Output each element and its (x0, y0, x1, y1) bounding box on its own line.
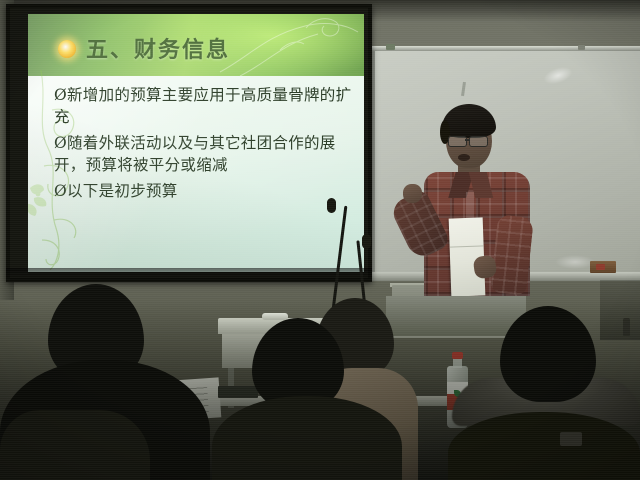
bullet-2-text: Ø随着外联活动以及与其它社团合作的展开，预算将被平分或缩减 (54, 134, 336, 174)
presenter-hair (442, 104, 496, 138)
whiteboard-clip-left (386, 44, 395, 50)
slide-bullet-3: Ø以下是初步预算 (54, 180, 354, 202)
bottle-cap (452, 352, 463, 359)
glasses-lens-left (448, 136, 467, 147)
header-swirl-decoration (210, 16, 360, 78)
classroom-scene: 五、财务信息 (0, 0, 640, 480)
desk-object (262, 313, 288, 320)
whiteboard-top-rail (372, 46, 640, 51)
audience-arm-left (0, 410, 150, 480)
bullet-3-text: Ø以下是初步预算 (54, 182, 178, 200)
projected-slide: 五、财务信息 (28, 14, 364, 272)
glasses-lens-right (469, 136, 488, 147)
slide-body: Ø新增加的预算主要应用于高质量骨牌的扩充 Ø随着外联活动以及与其它社团合作的展开… (28, 76, 364, 272)
slide-header-band: 五、财务信息 (28, 14, 364, 76)
presenter (398, 96, 558, 296)
glasses-bridge (465, 139, 470, 141)
gray-wall-panel (386, 296, 526, 336)
sun-icon (58, 40, 76, 58)
audience-body-right (448, 412, 640, 480)
audience-notebook (218, 386, 258, 398)
projection-screen-frame: 五、财务信息 (6, 4, 372, 282)
slide-bullet-1: Ø新增加的预算主要应用于高质量骨牌的扩充 (54, 84, 354, 128)
microphone-head-right (362, 234, 371, 249)
slide-bullet-2: Ø随着外联活动以及与其它社团合作的展开，预算将被平分或缩减 (54, 132, 354, 176)
audience-jacket-zipper (560, 432, 582, 446)
microphone-head-left (327, 198, 336, 213)
presenter-fist (403, 184, 422, 203)
screen-drop-shadow (6, 268, 372, 284)
bullet-1-text: Ø新增加的预算主要应用于高质量骨牌的扩充 (54, 86, 351, 126)
wall-right-shadow (600, 280, 640, 340)
slide-title: 五、财务信息 (86, 32, 230, 64)
whiteboard-eraser-accent (596, 264, 605, 270)
far-bottle (623, 318, 630, 336)
slide-bullet-list: Ø新增加的预算主要应用于高质量骨牌的扩充 Ø随着外联活动以及与其它社团合作的展开… (54, 84, 354, 206)
whiteboard-clip-right (578, 45, 585, 50)
whiteboard-glare-lower (555, 255, 595, 269)
presenter-mouth (458, 154, 470, 161)
